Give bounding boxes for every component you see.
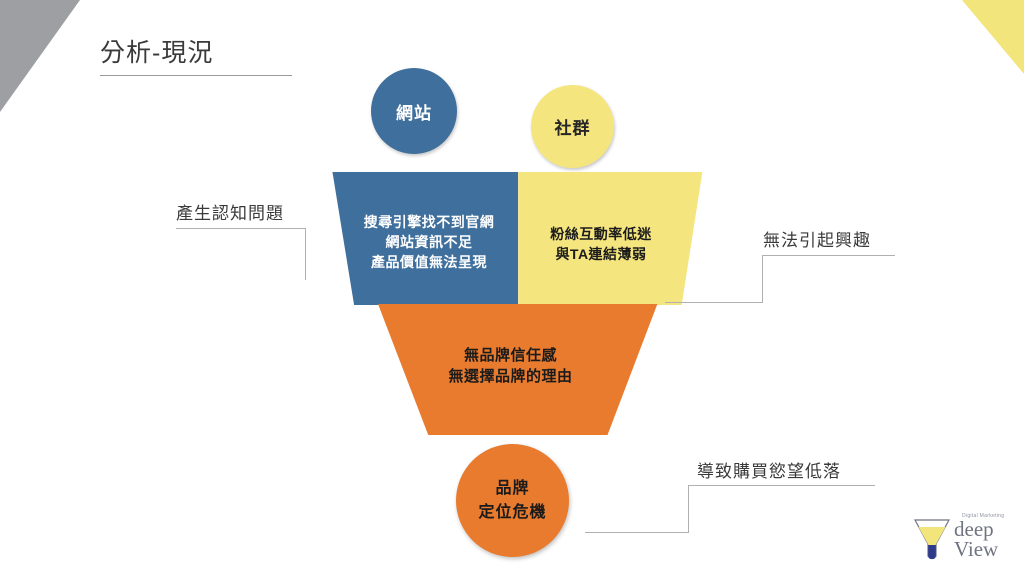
funnel-segment-website [330, 170, 518, 305]
source-circle-website-label: 網站 [396, 99, 432, 124]
callout-label-no-interest: 無法引起興趣 [763, 226, 871, 251]
connector-horizontal-segment-top [762, 255, 895, 256]
logo-word-view: View [954, 540, 998, 560]
source-circle-website: 網站 [371, 68, 457, 154]
callout-label-low-purchase-intent: 導致購買慾望低落 [697, 457, 841, 482]
title-block: 分析-現況 [100, 38, 360, 76]
title-underline [100, 75, 292, 76]
funnel-segment-brand [330, 304, 705, 435]
source-circle-social: 社群 [531, 85, 614, 168]
page-title: 分析-現況 [100, 38, 360, 69]
connector-horizontal-segment [176, 228, 306, 229]
connector-vertical-segment [688, 485, 689, 533]
funnel-glass-icon [912, 514, 952, 560]
top-left-wedge-decoration [0, 0, 80, 112]
callout-connector-left [176, 228, 306, 280]
outcome-circle-brand-crisis: 品牌 定位危機 [456, 444, 569, 557]
source-circle-social-label: 社群 [555, 114, 591, 139]
funnel-diagram [330, 170, 705, 435]
slide-canvas: 分析-現況 網站 社群 搜尋引擎找不到官網 網站資訊不足 產品價值無法呈現 粉絲… [0, 0, 1024, 576]
connector-vertical-segment [762, 255, 763, 303]
callout-connector-bottom [585, 485, 875, 533]
brand-logo: Digital Marketing deep View [912, 508, 1012, 560]
funnel-segment-social [518, 170, 705, 305]
top-right-wedge-decoration [962, 0, 1024, 74]
callout-label-awareness-problem: 產生認知問題 [176, 199, 284, 224]
logo-wordmark: Digital Marketing deep View [954, 512, 998, 560]
connector-horizontal-segment-bottom [585, 532, 689, 533]
connector-vertical-segment [305, 228, 306, 280]
funnel-upper-band [330, 170, 705, 305]
logo-tagline: Digital Marketing [962, 513, 1004, 519]
connector-horizontal-segment-top [688, 485, 875, 486]
